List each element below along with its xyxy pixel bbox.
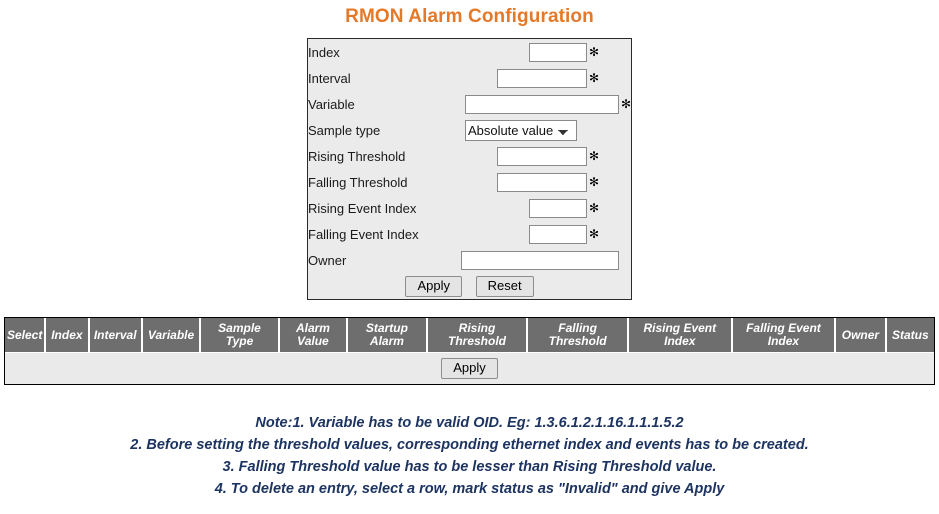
- falling-threshold-input[interactable]: [497, 173, 587, 192]
- form-row-falling-event-index: Falling Event Index✻: [308, 221, 631, 247]
- form-row-falling-threshold: Falling Threshold✻: [308, 169, 631, 195]
- required-marker-icon: ✻: [589, 227, 599, 241]
- results-header-row: SelectIndexIntervalVariableSample TypeAl…: [5, 318, 934, 353]
- form-field-cell: ✻: [420, 65, 631, 91]
- results-grid: SelectIndexIntervalVariableSample TypeAl…: [5, 318, 934, 384]
- form-label-variable: Variable: [308, 91, 420, 117]
- form-field-cell: Absolute valueDelta value: [420, 117, 631, 143]
- form-label-falling-event-index: Falling Event Index: [308, 221, 420, 247]
- form-field-cell: ✻: [420, 91, 631, 117]
- config-form-table: Index✻Interval✻Variable✻Sample typeAbsol…: [308, 39, 631, 299]
- col-header-status: Status: [886, 318, 934, 353]
- field-wrapper: ✻: [420, 225, 599, 244]
- sample-type-select[interactable]: Absolute valueDelta value: [465, 120, 577, 141]
- form-label-rising-event-index: Rising Event Index: [308, 195, 420, 221]
- form-label-interval: Interval: [308, 65, 420, 91]
- form-reset-button[interactable]: Reset: [476, 276, 534, 297]
- note-line-2: 2. Before setting the threshold values, …: [0, 434, 939, 456]
- field-wrapper: Absolute valueDelta value: [420, 120, 577, 141]
- results-apply-cell: Apply: [5, 353, 934, 385]
- results-grid-body: Apply: [5, 353, 934, 385]
- note-line-4: 4. To delete an entry, select a row, mar…: [0, 478, 939, 500]
- index-input[interactable]: [529, 43, 587, 62]
- form-field-cell: ✻: [420, 169, 631, 195]
- note-line-3: 3. Falling Threshold value has to be les…: [0, 456, 939, 478]
- field-wrapper: ✻: [420, 173, 599, 192]
- form-row-index: Index✻: [308, 39, 631, 65]
- col-header-select: Select: [5, 318, 45, 353]
- col-header-sample-type: Sample Type: [200, 318, 279, 353]
- col-header-index: Index: [45, 318, 88, 353]
- col-header-rising-threshold: Rising Threshold: [427, 318, 528, 353]
- col-header-falling-threshold: Falling Threshold: [527, 318, 628, 353]
- field-wrapper: ✻: [420, 95, 631, 114]
- col-header-owner: Owner: [835, 318, 885, 353]
- form-label-rising-threshold: Rising Threshold: [308, 143, 420, 169]
- form-field-cell: ✻: [420, 195, 631, 221]
- rising-threshold-input[interactable]: [497, 147, 587, 166]
- field-wrapper: ✻: [420, 69, 599, 88]
- form-row-rising-event-index: Rising Event Index✻: [308, 195, 631, 221]
- field-wrapper: ✻: [420, 43, 599, 62]
- required-marker-icon: ✻: [621, 97, 631, 111]
- required-marker-icon: ✻: [589, 175, 599, 189]
- field-wrapper: ✻: [420, 147, 599, 166]
- variable-input[interactable]: [465, 95, 619, 114]
- col-header-variable: Variable: [142, 318, 200, 353]
- form-field-cell: ✻: [420, 39, 631, 65]
- interval-input[interactable]: [497, 69, 587, 88]
- form-field-cell: ✻: [420, 221, 631, 247]
- required-marker-icon: ✻: [589, 201, 599, 215]
- form-row-owner: Owner: [308, 247, 631, 273]
- page-title: RMON Alarm Configuration: [0, 0, 939, 28]
- form-buttons-row: Apply Reset: [308, 273, 631, 299]
- notes-block: Note:1. Variable has to be valid OID. Eg…: [0, 412, 939, 500]
- note-line-1: Note:1. Variable has to be valid OID. Eg…: [0, 412, 939, 434]
- col-header-interval: Interval: [89, 318, 142, 353]
- col-header-startup-alarm: Startup Alarm: [347, 318, 427, 353]
- rmon-alarm-results-table: SelectIndexIntervalVariableSample TypeAl…: [4, 317, 935, 385]
- owner-input[interactable]: [461, 251, 619, 270]
- required-marker-icon: ✻: [589, 149, 599, 163]
- form-apply-button[interactable]: Apply: [405, 276, 462, 297]
- config-form-body: Index✻Interval✻Variable✻Sample typeAbsol…: [308, 39, 631, 273]
- results-grid-head: SelectIndexIntervalVariableSample TypeAl…: [5, 318, 934, 353]
- col-header-rising-event-index: Rising Event Index: [628, 318, 732, 353]
- results-apply-row: Apply: [5, 353, 934, 385]
- form-buttons-cell: Apply Reset: [308, 273, 631, 299]
- form-label-falling-threshold: Falling Threshold: [308, 169, 420, 195]
- rising-event-index-input[interactable]: [529, 199, 587, 218]
- form-label-owner: Owner: [308, 247, 420, 273]
- results-apply-button[interactable]: Apply: [441, 358, 498, 379]
- form-row-rising-threshold: Rising Threshold✻: [308, 143, 631, 169]
- form-row-variable: Variable✻: [308, 91, 631, 117]
- form-field-cell: ✻: [420, 143, 631, 169]
- required-marker-icon: ✻: [589, 45, 599, 59]
- form-row-interval: Interval✻: [308, 65, 631, 91]
- field-wrapper: [420, 251, 619, 270]
- falling-event-index-input[interactable]: [529, 225, 587, 244]
- col-header-falling-event-index: Falling Event Index: [732, 318, 836, 353]
- field-wrapper: ✻: [420, 199, 599, 218]
- required-marker-icon: ✻: [589, 71, 599, 85]
- form-row-sample-type: Sample typeAbsolute valueDelta value: [308, 117, 631, 143]
- form-label-index: Index: [308, 39, 420, 65]
- form-field-cell: [420, 247, 631, 273]
- col-header-alarm-value: Alarm Value: [279, 318, 347, 353]
- rmon-alarm-config-form: Index✻Interval✻Variable✻Sample typeAbsol…: [307, 38, 632, 300]
- form-label-sample-type: Sample type: [308, 117, 420, 143]
